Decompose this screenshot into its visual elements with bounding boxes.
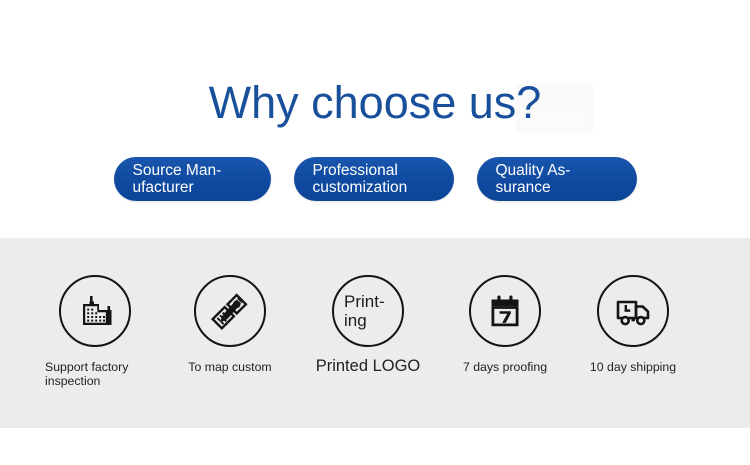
pencil-ruler-icon xyxy=(194,275,266,347)
feature-item-support-factory-inspection[interactable]: Support factory inspection xyxy=(25,238,165,388)
pill-label-line2: customization xyxy=(313,179,408,197)
pill-label-line1: Source Man- xyxy=(133,162,222,180)
delivery-truck-icon xyxy=(597,275,669,347)
printing-text-icon: Print-ing xyxy=(332,275,404,347)
feature-label: 10 day shipping xyxy=(590,360,676,374)
pill-label-line1: Quality As- xyxy=(496,162,571,180)
promo-banner: Why choose us? Source Man- ufacturer Pro… xyxy=(0,0,750,465)
footer-whitespace xyxy=(0,428,750,465)
pill-label-line2: surance xyxy=(496,179,551,197)
pill-label-line1: Professional xyxy=(313,162,398,180)
feature-item-printed-logo[interactable]: Print-ing Printed LOGO xyxy=(298,238,438,376)
pill-source-manufacturer[interactable]: Source Man- ufacturer xyxy=(114,157,271,201)
calendar-7-icon xyxy=(469,275,541,347)
pill-button-row: Source Man- ufacturer Professional custo… xyxy=(0,157,750,201)
page-title: Why choose us? xyxy=(0,74,750,131)
feature-label: Printed LOGO xyxy=(316,357,421,376)
feature-item-7-days-proofing[interactable]: 7 days proofing xyxy=(435,238,575,374)
feature-item-10-day-shipping[interactable]: 10 day shipping xyxy=(563,238,703,374)
pill-label-line2: ufacturer xyxy=(133,179,194,197)
feature-strip: Support factory inspection xyxy=(0,238,750,428)
printing-circle-label: Print-ing xyxy=(344,292,392,330)
feature-label: Support factory inspection xyxy=(45,360,145,388)
feature-label: To map custom xyxy=(188,360,271,374)
hero-section: Why choose us? Source Man- ufacturer Pro… xyxy=(0,0,750,238)
feature-item-to-map-custom[interactable]: To map custom xyxy=(160,238,300,374)
pill-professional-customization[interactable]: Professional customization xyxy=(294,157,454,201)
feature-label: 7 days proofing xyxy=(463,360,547,374)
factory-building-icon xyxy=(59,275,131,347)
pill-quality-assurance[interactable]: Quality As- surance xyxy=(477,157,637,201)
